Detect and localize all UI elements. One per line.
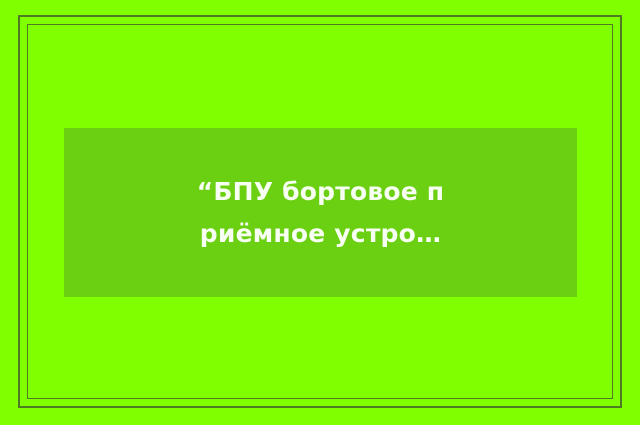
quote-line-2: риёмное устро… bbox=[200, 213, 441, 255]
quote-panel: “БПУ бортовое п риёмное устро… bbox=[64, 128, 577, 297]
slide-canvas: “БПУ бортовое п риёмное устро… bbox=[0, 0, 640, 425]
quote-line-1: “БПУ бортовое п bbox=[197, 171, 445, 213]
